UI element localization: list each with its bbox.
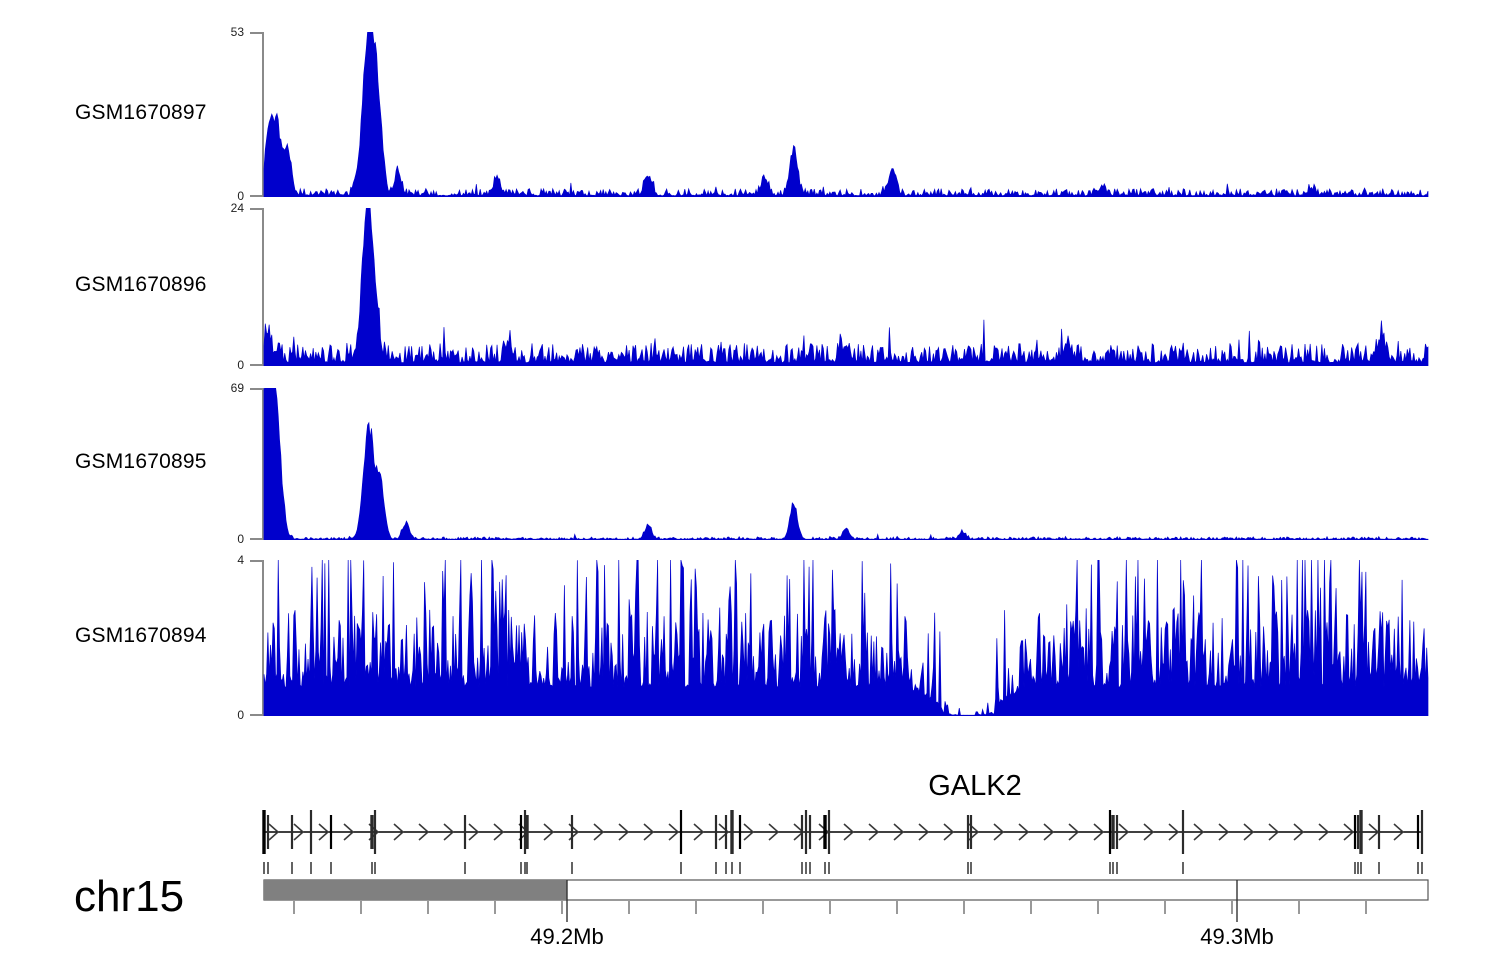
exon[interactable] — [739, 815, 741, 849]
exon[interactable] — [464, 815, 466, 849]
exon[interactable] — [291, 815, 293, 849]
coverage-track[interactable]: GSM1670895690 — [0, 388, 1500, 540]
gene-model-panel[interactable]: GALK2 — [0, 770, 1500, 870]
exon[interactable] — [262, 810, 265, 854]
exon[interactable] — [1359, 810, 1362, 854]
coverage-signal[interactable] — [0, 560, 1500, 716]
exon[interactable] — [715, 815, 717, 849]
exon[interactable] — [520, 815, 522, 849]
exon[interactable] — [967, 815, 969, 849]
exon[interactable] — [571, 815, 573, 849]
exon[interactable] — [1378, 815, 1380, 849]
exon[interactable] — [1116, 815, 1118, 849]
coverage-signal[interactable] — [0, 388, 1500, 540]
exon[interactable] — [805, 810, 807, 854]
coverage-track[interactable]: GSM1670897530 — [0, 32, 1500, 197]
exon[interactable] — [801, 815, 803, 849]
genome-browser: GSM1670897530GSM1670896240GSM1670895690G… — [0, 0, 1500, 980]
exon[interactable] — [330, 815, 332, 849]
gene-model-track[interactable] — [0, 770, 1500, 870]
exon[interactable] — [1109, 810, 1111, 854]
exon[interactable] — [730, 810, 733, 854]
exon[interactable] — [1354, 815, 1356, 849]
coverage-track[interactable]: GSM1670896240 — [0, 208, 1500, 366]
exon[interactable] — [1357, 815, 1359, 849]
exon[interactable] — [970, 815, 972, 849]
exon[interactable] — [680, 810, 682, 854]
exon[interactable] — [267, 815, 269, 849]
exon[interactable] — [828, 810, 830, 854]
exon[interactable] — [1421, 810, 1423, 854]
coordinate-label: 49.3Mb — [1200, 924, 1273, 950]
exon[interactable] — [809, 815, 811, 849]
exon[interactable] — [1182, 810, 1184, 854]
coverage-signal[interactable] — [0, 208, 1500, 366]
exon[interactable] — [823, 815, 826, 849]
exon[interactable] — [310, 810, 312, 854]
coordinate-label: 49.2Mb — [530, 924, 603, 950]
exon[interactable] — [1417, 815, 1419, 849]
exon[interactable] — [1111, 815, 1114, 849]
exon[interactable] — [374, 810, 376, 854]
exon[interactable] — [525, 815, 528, 849]
ideogram-band-fill[interactable] — [264, 880, 567, 900]
coverage-signal[interactable] — [0, 32, 1500, 197]
ideogram-ruler-panel: chr15 49.2Mb49.3Mb — [0, 862, 1500, 980]
exon[interactable] — [370, 815, 373, 849]
coverage-track[interactable]: GSM167089440 — [0, 560, 1500, 716]
coordinate-ruler[interactable] — [0, 862, 1500, 980]
exon[interactable] — [725, 815, 727, 849]
